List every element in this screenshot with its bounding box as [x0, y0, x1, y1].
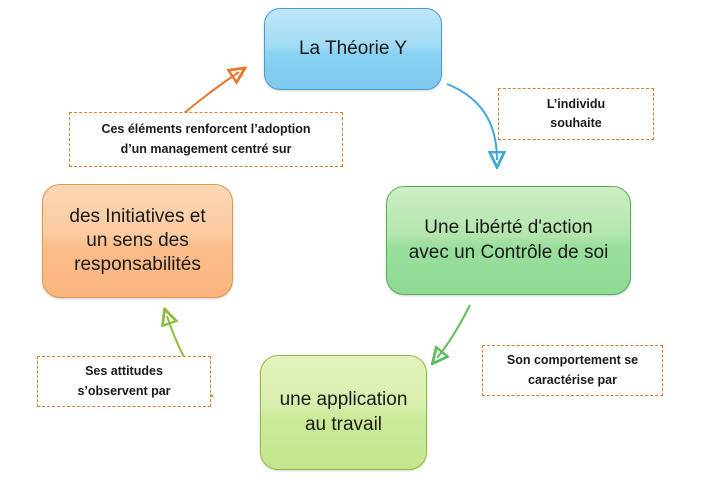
node-la-theorie-y[interactable]: La Théorie Y	[264, 8, 442, 90]
node-application-travail-line1: une application	[280, 389, 408, 410]
label-renforcent-line1: Ces éléments renforcent l’adoption	[101, 122, 310, 136]
label-ses-attitudes-text: Ses attitudes s’observent par	[38, 362, 210, 401]
node-application-travail-line2: au travail	[305, 414, 382, 435]
label-ses-attitudes: Ses attitudes s’observent par	[37, 356, 211, 407]
node-liberte-action-label: Une Libérté d'action avec un Contrôle de…	[387, 216, 630, 265]
label-comportement-line2: caractérise par	[528, 373, 617, 387]
node-initiatives-line2: un sens des	[86, 230, 188, 251]
label-renforcent-line2: d’un management centré sur	[121, 142, 292, 156]
label-individu-line2: souhaite	[550, 116, 601, 130]
node-application-travail[interactable]: une application au travail	[260, 355, 427, 470]
node-initiatives-responsabilites-label: des Initiatives et un sens des responsab…	[43, 205, 232, 278]
arrow-liberte-to-application	[437, 305, 470, 358]
diagram-canvas: La Théorie Y Une Libérté d'action avec u…	[0, 0, 720, 495]
label-attitudes-line1: Ses attitudes	[85, 364, 163, 378]
node-liberte-action[interactable]: Une Libérté d'action avec un Contrôle de…	[386, 186, 631, 295]
arrow-theorie-to-liberte	[447, 84, 497, 160]
node-liberte-action-line1: Une Libérté d'action	[424, 217, 592, 238]
node-liberte-action-line2: avec un Contrôle de soi	[409, 242, 609, 263]
node-application-travail-label: une application au travail	[261, 388, 426, 437]
label-individu-souhaite-text: L’individu souhaite	[499, 95, 653, 134]
label-comportement-line1: Son comportement se	[507, 353, 638, 367]
label-son-comportement: Son comportement se caractérise par	[482, 345, 663, 396]
node-initiatives-responsabilites[interactable]: des Initiatives et un sens des responsab…	[42, 184, 233, 298]
node-initiatives-line1: des Initiatives et	[69, 206, 205, 227]
label-individu-line1: L’individu	[547, 97, 605, 111]
label-ces-elements-renforcent-text: Ces éléments renforcent l’adoption d’un …	[70, 120, 342, 159]
label-attitudes-line2: s’observent par	[77, 384, 170, 398]
label-ces-elements-renforcent: Ces éléments renforcent l’adoption d’un …	[69, 112, 343, 167]
node-la-theorie-y-label: La Théorie Y	[265, 37, 441, 61]
label-son-comportement-text: Son comportement se caractérise par	[483, 351, 662, 390]
label-individu-souhaite: L’individu souhaite	[498, 88, 654, 140]
node-initiatives-line3: responsabilités	[74, 254, 201, 275]
